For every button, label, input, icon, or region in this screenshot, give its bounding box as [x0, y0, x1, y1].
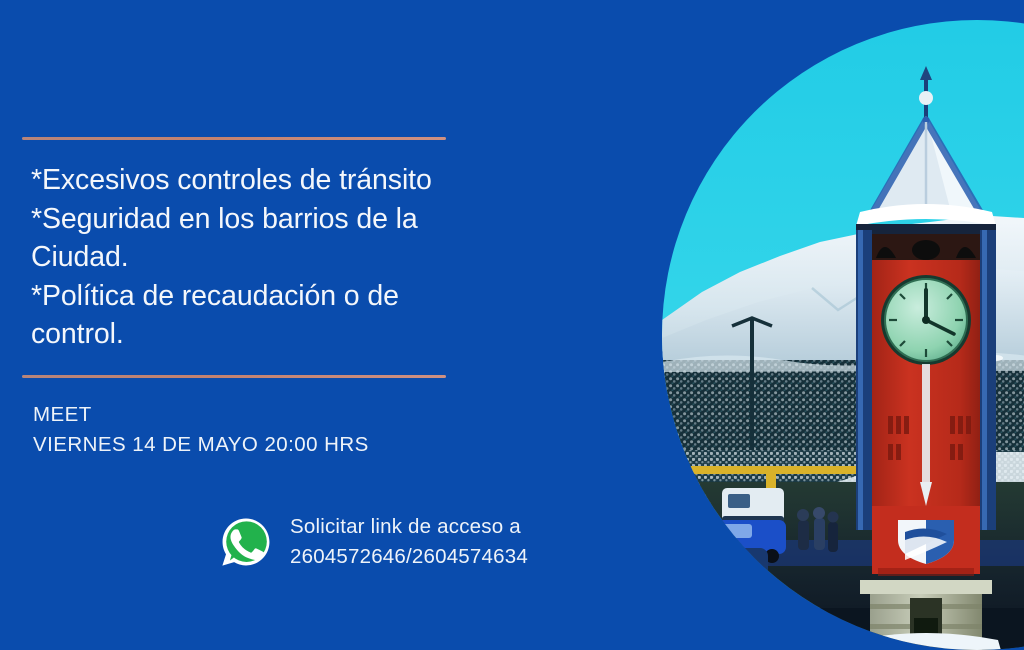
- meet-info-block: MEET VIERNES 14 DE MAYO 20:00 HRS: [33, 400, 503, 460]
- whatsapp-text-lines: Solicitar link de acceso a 2604572646/26…: [290, 512, 528, 572]
- whatsapp-phone-numbers: 2604572646/2604574634: [290, 542, 528, 572]
- whatsapp-icon[interactable]: [218, 514, 274, 570]
- photo-illustration: [662, 20, 1024, 650]
- divider-rule-top: [22, 137, 446, 140]
- vehicle-blue-car-1: [706, 520, 786, 563]
- divider-rule-bottom: [22, 375, 446, 378]
- snowy-clock-tower-photo: [662, 20, 1024, 650]
- meet-datetime: VIERNES 14 DE MAYO 20:00 HRS: [33, 430, 503, 460]
- bullet-points-text: *Excesivos controles de tránsito *Seguri…: [31, 161, 501, 354]
- meet-label: MEET: [33, 400, 503, 430]
- whatsapp-contact-row[interactable]: Solicitar link de acceso a 2604572646/26…: [218, 512, 528, 572]
- vehicle-blue-car-2: [676, 548, 768, 594]
- whatsapp-instruction-line: Solicitar link de acceso a: [290, 512, 528, 542]
- pedestrian-group: [797, 507, 839, 552]
- flyer-canvas: *Excesivos controles de tránsito *Seguri…: [0, 0, 1024, 650]
